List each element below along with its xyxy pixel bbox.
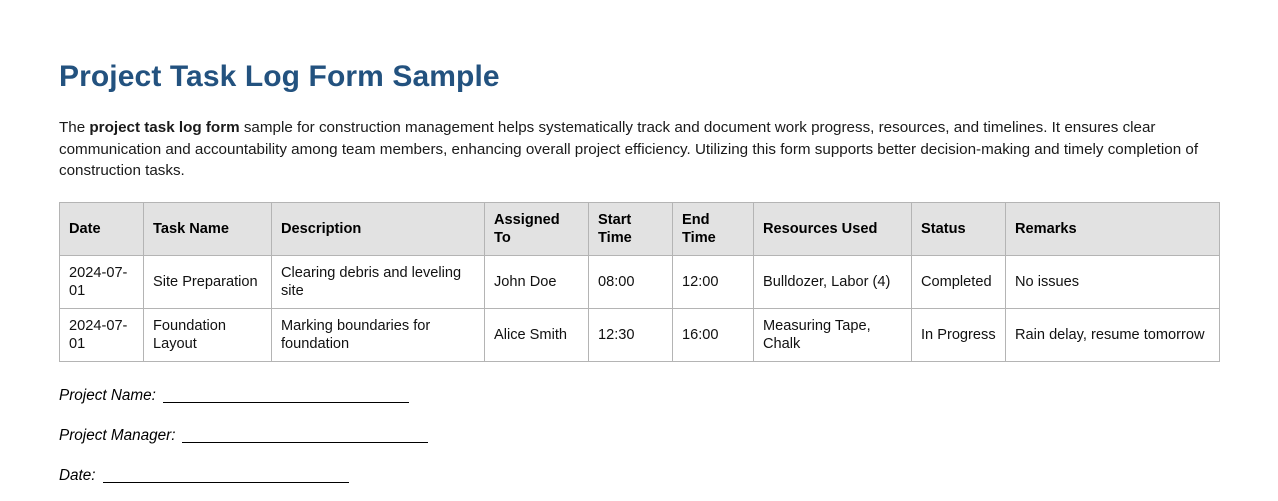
intro-text-before-bold: The [59,119,89,136]
cell-end-time: 16:00 [673,308,754,361]
cell-remarks: No issues [1006,255,1220,308]
cell-assigned-to: Alice Smith [485,308,589,361]
signature-block: Project Name: Project Manager: Date: [59,362,1219,485]
signature-input-project-manager[interactable] [182,429,428,443]
signature-field-project-manager: Project Manager: [59,426,1219,445]
column-header-assigned-to: Assigned To [485,202,589,255]
cell-description: Clearing debris and leveling site [272,255,485,308]
cell-resources-used: Bulldozer, Labor (4) [754,255,912,308]
table-row: 2024-07-01 Site Preparation Clearing deb… [60,255,1220,308]
cell-date: 2024-07-01 [60,255,144,308]
signature-label-project-manager: Project Manager: [59,427,175,444]
column-header-end-time: End Time [673,202,754,255]
cell-date: 2024-07-01 [60,308,144,361]
cell-status: In Progress [912,308,1006,361]
page-title: Project Task Log Form Sample [59,0,1219,96]
task-log-table: Date Task Name Description Assigned To S… [59,202,1220,362]
cell-remarks: Rain delay, resume tomorrow [1006,308,1220,361]
cell-task-name: Site Preparation [144,255,272,308]
column-header-description: Description [272,202,485,255]
table-row: 2024-07-01 Foundation Layout Marking bou… [60,308,1220,361]
column-header-date: Date [60,202,144,255]
intro-bold-phrase: project task log form [89,119,239,136]
cell-end-time: 12:00 [673,255,754,308]
signature-input-date[interactable] [103,469,349,483]
intro-paragraph: The project task log form sample for con… [59,96,1219,182]
cell-task-name: Foundation Layout [144,308,272,361]
cell-description: Marking boundaries for foundation [272,308,485,361]
cell-start-time: 12:30 [589,308,673,361]
column-header-remarks: Remarks [1006,202,1220,255]
cell-assigned-to: John Doe [485,255,589,308]
column-header-start-time: Start Time [589,202,673,255]
cell-start-time: 08:00 [589,255,673,308]
table-header-row: Date Task Name Description Assigned To S… [60,202,1220,255]
signature-field-project-name: Project Name: [59,386,1219,405]
signature-input-project-name[interactable] [163,389,409,403]
signature-label-project-name: Project Name: [59,387,156,404]
cell-resources-used: Measuring Tape, Chalk [754,308,912,361]
column-header-resources-used: Resources Used [754,202,912,255]
column-header-status: Status [912,202,1006,255]
signature-field-date: Date: [59,466,1219,485]
column-header-task-name: Task Name [144,202,272,255]
cell-status: Completed [912,255,1006,308]
signature-label-date: Date: [59,467,96,484]
document-page: Project Task Log Form Sample The project… [0,0,1278,501]
